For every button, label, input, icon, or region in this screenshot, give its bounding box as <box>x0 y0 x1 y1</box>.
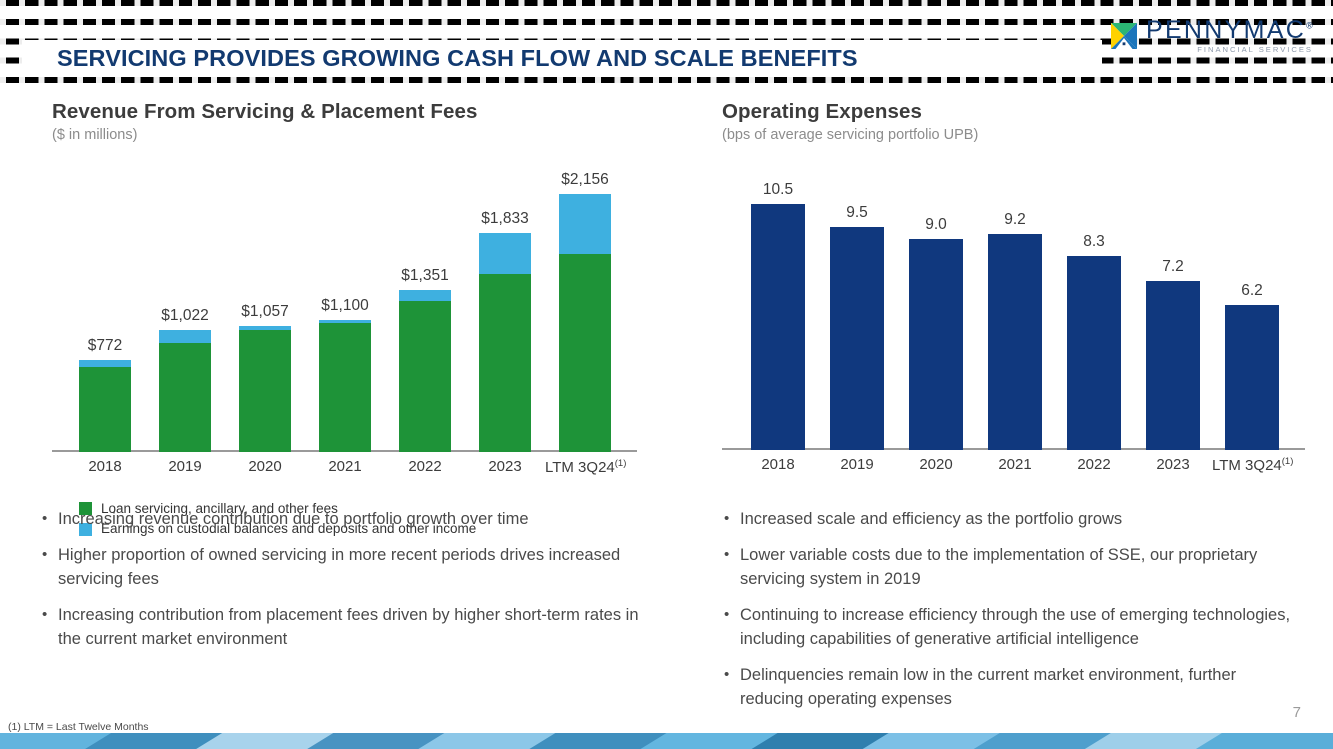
pennymac-trademark: ® <box>1306 21 1315 31</box>
revenue-bar-segment-servicing <box>399 301 451 452</box>
revenue-bar-segment-servicing <box>159 343 211 452</box>
opex-category-label-ltm-3q24: LTM 3Q24(1) <box>1212 456 1292 474</box>
opex-bar-value-label: 6.2 <box>1241 282 1263 300</box>
opex-category-label-2019: 2019 <box>817 456 897 473</box>
revenue-panel-subtitle: ($ in millions) <box>52 127 672 144</box>
opex-bullet-marker-2: • <box>724 604 740 625</box>
page-title: SERVICING PROVIDES GROWING CASH FLOW AND… <box>57 45 858 72</box>
revenue-bar-2021: $1,100 <box>319 320 371 452</box>
opex-bar-value-label: 9.5 <box>846 204 868 222</box>
opex-category-label-2020: 2020 <box>896 456 976 473</box>
opex-bar-value-label: 7.2 <box>1162 258 1184 276</box>
opex-bar-value-label: 8.3 <box>1083 233 1105 251</box>
revenue-bar-segment-custodial <box>479 233 531 274</box>
opex-bullet-text-2: Continuing to increase efficiency throug… <box>740 604 1294 651</box>
revenue-bar-2018: $772 <box>79 360 131 452</box>
opex-bar-value-label: 9.2 <box>1004 211 1026 229</box>
revenue-bar-value-label: $1,100 <box>321 297 368 315</box>
revenue-bar-segment-custodial <box>79 360 131 367</box>
pennymac-logo-mark-icon <box>1111 23 1137 49</box>
revenue-bar-value-label: $772 <box>88 337 122 355</box>
revenue-bar-segment-servicing <box>319 323 371 452</box>
pennymac-logo: PENNYMAC® FINANCIAL SERVICES <box>1111 18 1315 54</box>
pennymac-wordmark-text: PENNYMAC <box>1146 16 1306 44</box>
opex-panel-title: Operating Expenses <box>722 100 1322 124</box>
revenue-bar-2023: $1,833 <box>479 233 531 452</box>
revenue-category-label-2022: 2022 <box>385 458 465 475</box>
revenue-bar-2019: $1,022 <box>159 330 211 452</box>
revenue-chart: $772$1,022$1,057$1,100$1,351$1,833$2,156… <box>52 152 672 480</box>
revenue-bullet-1: •Higher proportion of owned servicing in… <box>42 544 642 591</box>
revenue-bullet-2: •Increasing contribution from placement … <box>42 604 642 651</box>
revenue-category-footnote-marker: (1) <box>615 458 627 469</box>
revenue-category-label-2020: 2020 <box>225 458 305 475</box>
revenue-bar-2022: $1,351 <box>399 290 451 452</box>
revenue-bar-2020: $1,057 <box>239 326 291 452</box>
opex-bar-2020: 9.0 <box>909 239 963 450</box>
opex-bullet-list: •Increased scale and efficiency as the p… <box>724 508 1294 724</box>
revenue-bullet-text-0: Increasing revenue contribution due to p… <box>58 508 642 531</box>
opex-bullet-text-1: Lower variable costs due to the implemen… <box>740 544 1294 591</box>
pennymac-logo-text: PENNYMAC® FINANCIAL SERVICES <box>1146 18 1315 54</box>
slide-canvas: PENNYMAC® FINANCIAL SERVICES SERVICING P… <box>0 0 1333 749</box>
revenue-bullet-list: •Increasing revenue contribution due to … <box>42 508 642 664</box>
pennymac-wordmark: PENNYMAC® <box>1146 18 1315 43</box>
opex-bar-2019: 9.5 <box>830 227 884 450</box>
opex-bar-value-label: 9.0 <box>925 216 947 234</box>
revenue-bar-value-label: $2,156 <box>561 171 608 189</box>
revenue-category-label-2018: 2018 <box>65 458 145 475</box>
revenue-bullet-text-2: Increasing contribution from placement f… <box>58 604 642 651</box>
revenue-bullet-marker-1: • <box>42 544 58 565</box>
bottom-decorative-band <box>0 733 1333 749</box>
opex-category-footnote-marker: (1) <box>1282 456 1294 467</box>
opex-category-label-2022: 2022 <box>1054 456 1134 473</box>
revenue-bar-ltm-3q24: $2,156 <box>559 194 611 452</box>
revenue-bar-segment-servicing <box>559 254 611 452</box>
revenue-chart-plot-area: $772$1,022$1,057$1,100$1,351$1,833$2,156 <box>52 152 672 452</box>
revenue-bullet-text-1: Higher proportion of owned servicing in … <box>58 544 642 591</box>
opex-chart-plot-area: 10.59.59.09.28.37.26.2 <box>722 152 1322 450</box>
opex-bullet-3: •Delinquencies remain low in the current… <box>724 664 1294 711</box>
opex-bullet-text-3: Delinquencies remain low in the current … <box>740 664 1294 711</box>
revenue-category-label-2023: 2023 <box>465 458 545 475</box>
revenue-bar-value-label: $1,057 <box>241 303 288 321</box>
opex-chart-category-axis: 201820192020202120222023LTM 3Q24(1) <box>722 450 1322 478</box>
opex-bar-2018: 10.5 <box>751 204 805 450</box>
revenue-category-label-2021: 2021 <box>305 458 385 475</box>
opex-bar-value-label: 10.5 <box>763 181 793 199</box>
opex-category-label-2018: 2018 <box>738 456 818 473</box>
revenue-category-label-ltm-3q24: LTM 3Q24(1) <box>545 458 625 476</box>
opex-panel: Operating Expenses (bps of average servi… <box>722 100 1322 478</box>
opex-bullet-marker-1: • <box>724 544 740 565</box>
opex-bullet-2: •Continuing to increase efficiency throu… <box>724 604 1294 651</box>
opex-bullet-1: •Lower variable costs due to the impleme… <box>724 544 1294 591</box>
footnote: (1) LTM = Last Twelve Months <box>8 721 149 733</box>
revenue-chart-category-axis: 201820192020202120222023LTM 3Q24(1) <box>52 452 672 480</box>
opex-bullet-0: •Increased scale and efficiency as the p… <box>724 508 1294 531</box>
opex-category-label-2021: 2021 <box>975 456 1055 473</box>
opex-bullet-text-0: Increased scale and efficiency as the po… <box>740 508 1294 531</box>
opex-category-label-2023: 2023 <box>1133 456 1213 473</box>
opex-bullet-marker-3: • <box>724 664 740 685</box>
revenue-bar-segment-custodial <box>159 330 211 343</box>
revenue-bullet-marker-2: • <box>42 604 58 625</box>
revenue-bar-segment-servicing <box>239 330 291 452</box>
opex-chart: 10.59.59.09.28.37.26.2 20182019202020212… <box>722 152 1322 478</box>
revenue-bar-segment-custodial <box>399 290 451 301</box>
revenue-bar-value-label: $1,022 <box>161 307 208 325</box>
opex-bar-2023: 7.2 <box>1146 281 1200 450</box>
revenue-panel: Revenue From Servicing & Placement Fees … <box>52 100 672 543</box>
pennymac-logo-subtitle: FINANCIAL SERVICES <box>1197 46 1313 54</box>
revenue-bullet-0: •Increasing revenue contribution due to … <box>42 508 642 531</box>
opex-panel-subtitle: (bps of average servicing portfolio UPB) <box>722 127 1322 144</box>
revenue-bar-value-label: $1,351 <box>401 267 448 285</box>
opex-bar-2021: 9.2 <box>988 234 1042 450</box>
revenue-bar-segment-custodial <box>559 194 611 254</box>
opex-bullet-marker-0: • <box>724 508 740 529</box>
revenue-bar-segment-servicing <box>479 274 531 452</box>
page-number: 7 <box>1293 704 1301 721</box>
revenue-bar-segment-servicing <box>79 367 131 452</box>
revenue-bullet-marker-0: • <box>42 508 58 529</box>
opex-bar-ltm-3q24: 6.2 <box>1225 305 1279 450</box>
revenue-category-label-2019: 2019 <box>145 458 225 475</box>
revenue-bar-value-label: $1,833 <box>481 210 528 228</box>
revenue-panel-title: Revenue From Servicing & Placement Fees <box>52 100 672 124</box>
opex-bar-2022: 8.3 <box>1067 256 1121 450</box>
